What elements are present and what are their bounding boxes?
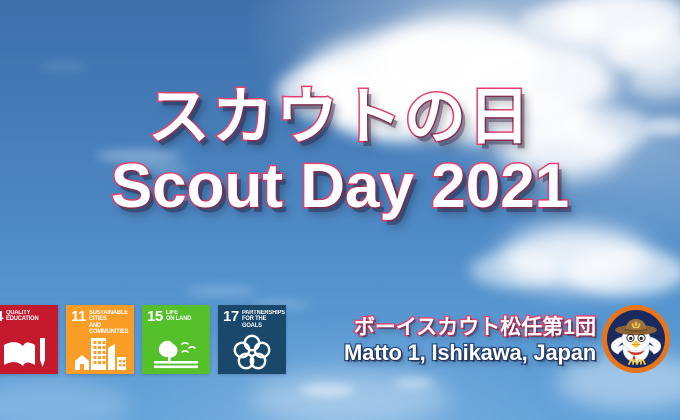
- title-block: スカウトの日 Scout Day 2021: [0, 86, 680, 218]
- sdg-4-label: QUALITYEDUCATION: [6, 310, 39, 323]
- sdg-17-label: PARTNERSHIPSFOR THE GOALS: [242, 310, 285, 329]
- sdg-4-number: 4: [0, 310, 3, 324]
- organization-block: ボーイスカウト松任第1団 Matto 1, Ishikawa, Japan: [344, 316, 596, 365]
- sdg-4-header: 4 QUALITYEDUCATION: [0, 305, 58, 324]
- scout-day-poster: スカウトの日 Scout Day 2021 4 QUALITYEDUCATION: [0, 0, 680, 420]
- sdg-17-number: 17: [223, 310, 239, 324]
- city-buildings-icon: [66, 332, 134, 370]
- organization-japanese: ボーイスカウト松任第1団: [344, 316, 596, 340]
- sdg-11-number: 11: [71, 310, 86, 324]
- sdg-badge-row: 4 QUALITYEDUCATION 11 SUSTAINABLE CITIE: [0, 305, 286, 374]
- interlocking-circles-icon: [218, 332, 286, 370]
- organization-english: Matto 1, Ishikawa, Japan: [344, 340, 596, 366]
- sdg-badge-17: 17 PARTNERSHIPSFOR THE GOALS: [218, 305, 286, 374]
- title-japanese: スカウトの日: [0, 86, 680, 149]
- sdg-15-label: LIFEON LAND: [166, 310, 191, 323]
- open-book-pencil-icon: [0, 332, 58, 370]
- sdg-badge-4: 4 QUALITYEDUCATION: [0, 305, 58, 374]
- tree-birds-icon: [142, 332, 210, 370]
- sdg-badge-15: 15 LIFEON LAND: [142, 305, 210, 374]
- title-english: Scout Day 2021: [0, 155, 680, 218]
- sdg-15-header: 15 LIFEON LAND: [142, 305, 210, 324]
- sdg-15-number: 15: [147, 310, 163, 324]
- sdg-badge-11: 11 SUSTAINABLE CITIESAND COMMUNITIES: [66, 305, 134, 374]
- sdg-17-header: 17 PARTNERSHIPSFOR THE GOALS: [218, 305, 286, 329]
- scout-logo: [600, 303, 672, 375]
